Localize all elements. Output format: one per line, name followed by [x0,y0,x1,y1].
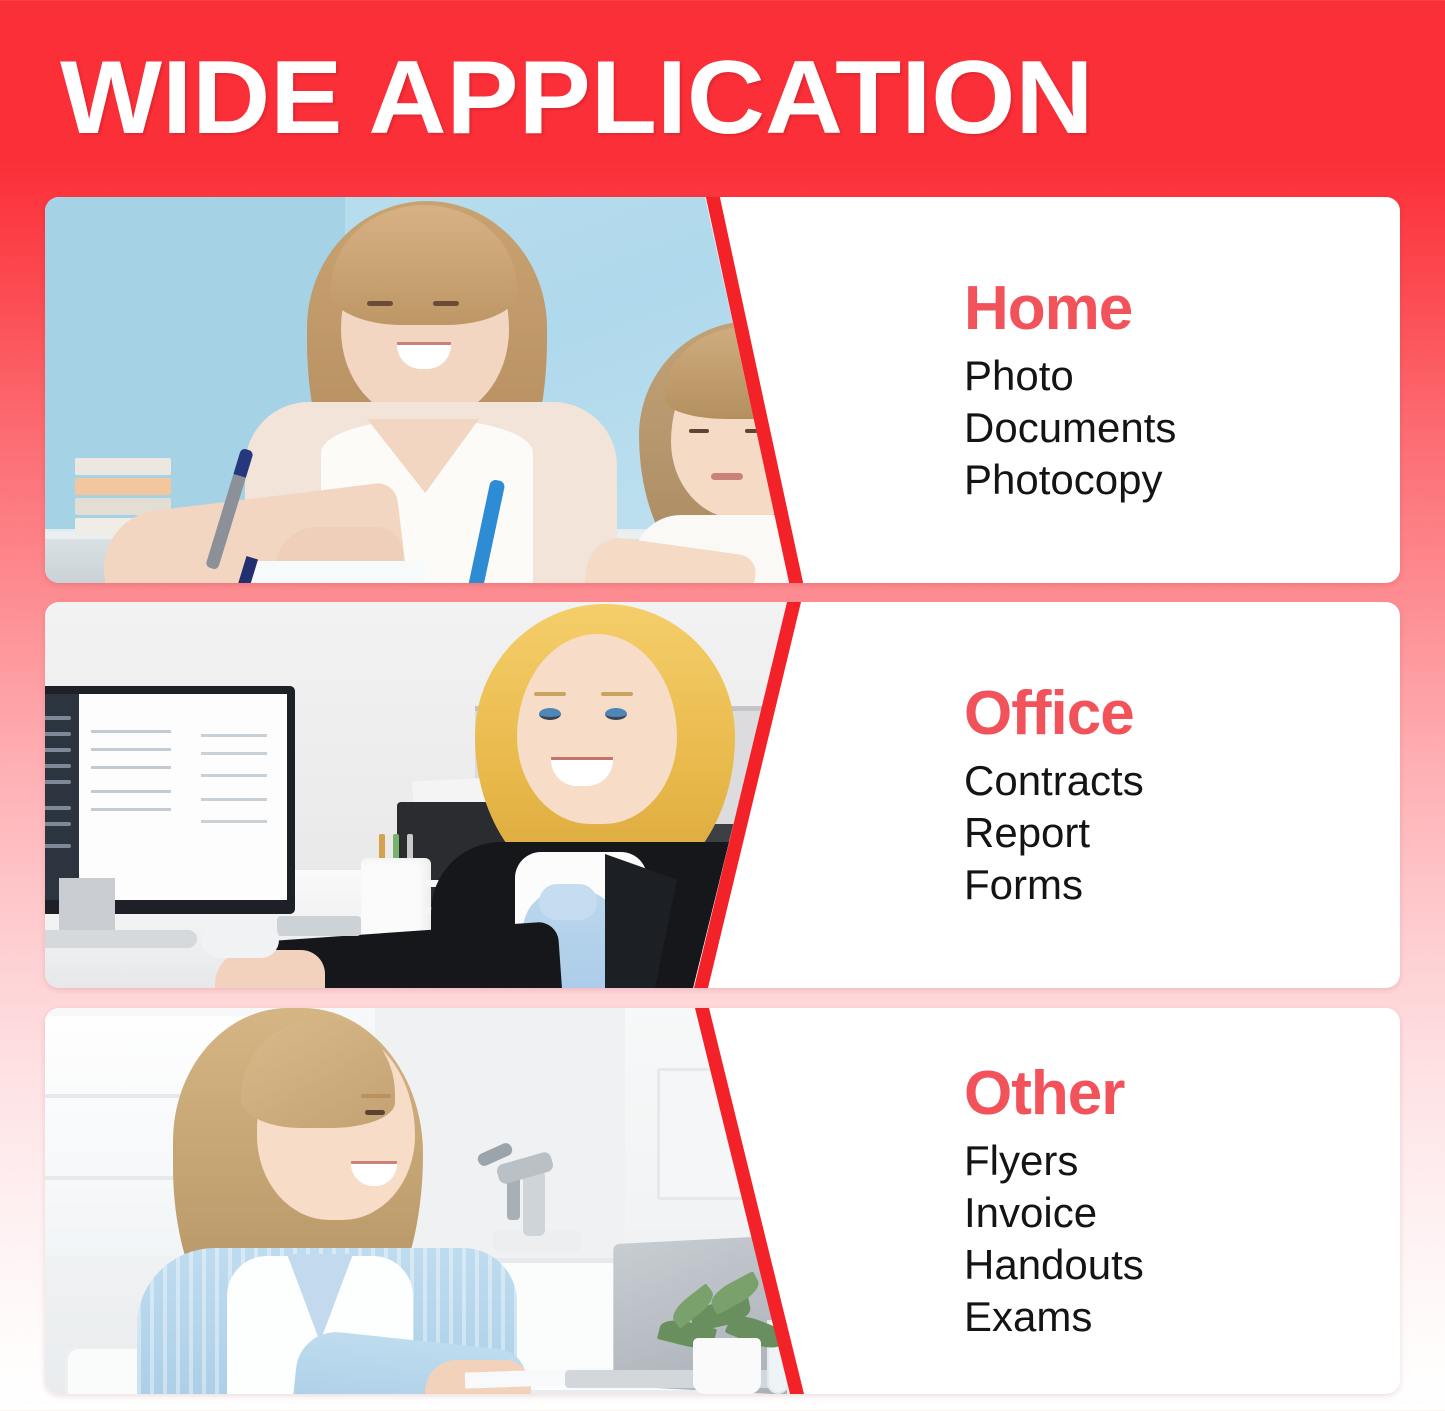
page-title: WIDE APPLICATION [60,44,1445,154]
scene-lab-laptop [45,1008,845,1394]
card-heading-office: Office [964,679,1400,749]
list-item: Contracts [964,755,1400,807]
scene-home-tutoring [45,197,835,583]
card-list-office: Contracts Report Forms [964,755,1400,911]
list-item: Photocopy [964,454,1400,506]
card-text-other: Other Flyers Invoice Handouts Exams [960,1008,1400,1394]
card-list-home: Photo Documents Photocopy [964,350,1400,506]
card-heading-home: Home [964,274,1400,344]
list-item: Handouts [964,1239,1400,1291]
card-list-other: Flyers Invoice Handouts Exams [964,1135,1400,1343]
card-text-home: Home Photo Documents Photocopy [960,197,1400,583]
application-card-home: Home Photo Documents Photocopy [45,197,1400,583]
list-item: Exams [964,1291,1400,1343]
list-item: Flyers [964,1135,1400,1187]
application-card-other: Other Flyers Invoice Handouts Exams [45,1008,1400,1394]
list-item: Report [964,807,1400,859]
scene-office-desk [45,602,845,988]
list-item: Photo [964,350,1400,402]
card-photo-home [45,197,835,583]
list-item: Invoice [964,1187,1400,1239]
card-photo-other [45,1008,845,1394]
card-text-office: Office Contracts Report Forms [960,602,1400,988]
list-item: Forms [964,859,1400,911]
card-heading-other: Other [964,1059,1400,1129]
application-card-office: Office Contracts Report Forms [45,602,1400,988]
list-item: Documents [964,402,1400,454]
card-photo-office [45,602,845,988]
